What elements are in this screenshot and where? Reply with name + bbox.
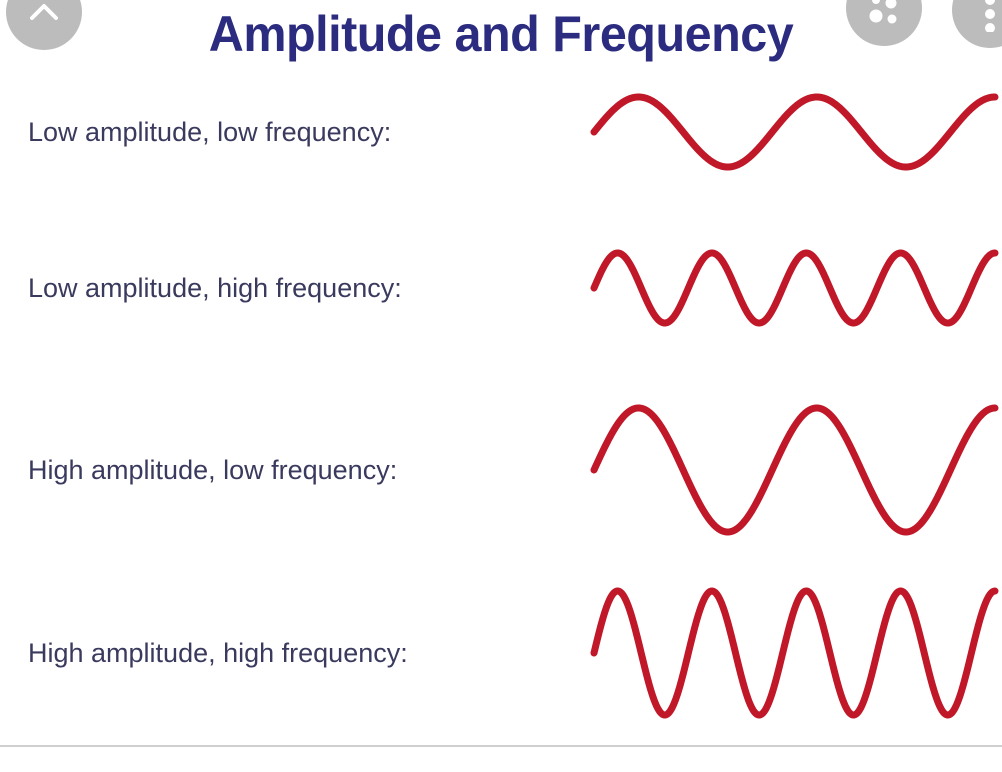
waveform-high-amp-low-freq bbox=[585, 370, 1000, 570]
waveform-high-amp-high-freq bbox=[585, 553, 1000, 753]
slide-canvas: Amplitude and Frequency Low amplitude, l… bbox=[0, 0, 1002, 772]
waveform-svg bbox=[585, 52, 1000, 212]
more-vertical-icon bbox=[978, 0, 1002, 32]
wave-row-label: Low amplitude, high frequency: bbox=[28, 272, 402, 304]
waveform-svg bbox=[585, 370, 1000, 570]
wave-row-label: Low amplitude, low frequency: bbox=[28, 116, 391, 148]
wave-path bbox=[594, 253, 995, 323]
waveform-svg bbox=[585, 553, 1000, 753]
footer-area bbox=[0, 747, 1002, 772]
chevron-up-icon bbox=[24, 0, 64, 32]
waveform-low-amp-low-freq bbox=[585, 52, 1000, 212]
waveform-low-amp-high-freq bbox=[585, 208, 1000, 368]
waveform-svg bbox=[585, 208, 1000, 368]
wave-row-label: High amplitude, low frequency: bbox=[28, 454, 397, 486]
wave-path bbox=[594, 97, 995, 167]
wave-path bbox=[594, 591, 995, 715]
share-icon bbox=[862, 0, 906, 30]
wave-row-label: High amplitude, high frequency: bbox=[28, 637, 408, 669]
wave-path bbox=[594, 408, 995, 532]
